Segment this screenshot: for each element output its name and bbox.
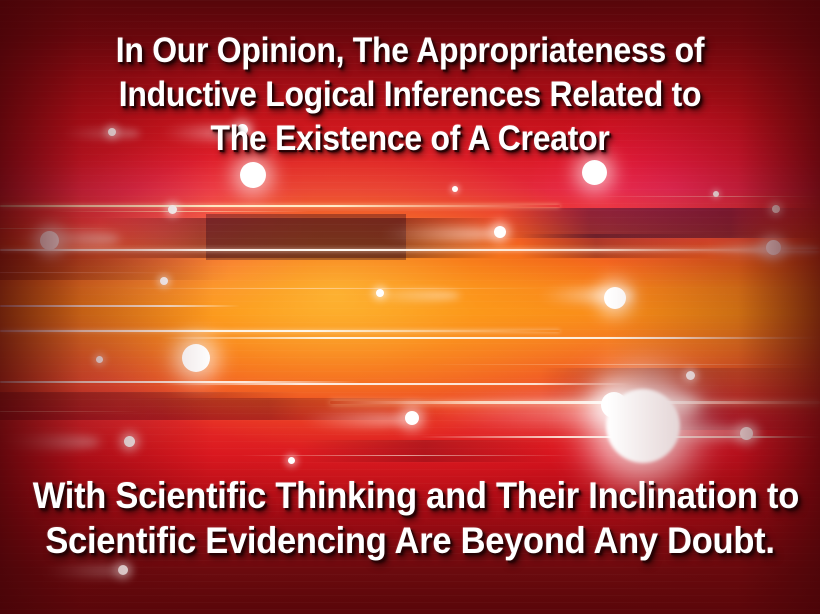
bokeh-dot [582, 160, 607, 185]
background-band [580, 404, 820, 430]
bokeh-dot [124, 436, 135, 447]
conclusion-line-1: With Scientific Thinking and Their Incli… [33, 473, 787, 518]
light-streak [120, 288, 550, 289]
bokeh-dot [740, 427, 753, 440]
bokeh-trail [10, 231, 120, 247]
bokeh-dot [96, 356, 103, 363]
bokeh-trail [380, 227, 500, 241]
bokeh-dot [601, 392, 627, 418]
bokeh-trail [360, 290, 460, 301]
background-band [0, 250, 230, 280]
bokeh-dot [240, 162, 266, 188]
bokeh-dot [182, 344, 210, 372]
background-band [540, 368, 820, 402]
bokeh-dot [108, 128, 116, 136]
light-streak [420, 436, 820, 438]
background-band [520, 234, 710, 258]
light-streak [0, 305, 240, 307]
conclusion-line-2: Scientific Evidencing Are Beyond Any Dou… [33, 518, 787, 563]
bokeh-dot [168, 205, 177, 214]
bokeh-trail [160, 126, 250, 140]
bokeh-dot [604, 287, 626, 309]
background-magenta-wash [0, 0, 820, 614]
background-center-glow [0, 0, 820, 614]
bokeh-trail [0, 435, 100, 449]
light-streak [0, 381, 360, 383]
bokeh-trail [700, 243, 790, 256]
light-streak [0, 228, 120, 229]
background-band [500, 208, 820, 238]
title-line-1: In Our Opinion, The Appropriateness of [41, 28, 779, 72]
bokeh-trail [300, 413, 410, 427]
bokeh-dot [686, 371, 695, 380]
light-streak [0, 272, 180, 273]
bokeh-dot [713, 191, 719, 197]
background-band [300, 440, 550, 462]
light-streak [0, 411, 140, 412]
bokeh-dot [766, 240, 781, 255]
bokeh-dot [237, 124, 248, 135]
bokeh-dot [494, 226, 506, 238]
bokeh-trail [538, 288, 633, 303]
light-streak [600, 196, 820, 197]
background-band [0, 392, 300, 420]
bokeh-trail [60, 128, 140, 139]
bokeh-dot [405, 411, 419, 425]
background-band [206, 214, 406, 260]
bokeh-dot [118, 565, 128, 575]
title-line-2: Inductive Logical Inferences Related to [41, 72, 779, 116]
bokeh-trail [590, 393, 700, 415]
bokeh-dot [452, 186, 458, 192]
presentation-slide: In Our Opinion, The Appropriateness of I… [0, 0, 820, 614]
background-band [100, 218, 500, 258]
light-streak [330, 401, 820, 404]
background-band [120, 398, 450, 420]
light-streak [0, 205, 560, 207]
background-base-gradient [0, 0, 820, 614]
bokeh-dot [606, 389, 680, 463]
light-streak [240, 455, 570, 456]
bokeh-dot [376, 289, 384, 297]
light-streak [0, 330, 560, 332]
light-streak [50, 211, 310, 212]
light-streak [430, 364, 820, 365]
bokeh-dot [160, 277, 168, 285]
bokeh-trail [740, 244, 820, 256]
background-edge-vignette [0, 0, 820, 614]
slide-conclusion: With Scientific Thinking and Their Incli… [33, 473, 787, 563]
slide-title: In Our Opinion, The Appropriateness of I… [41, 28, 779, 160]
light-streak [0, 249, 820, 251]
background-scanline-overlay [0, 0, 820, 614]
bokeh-dot [40, 231, 59, 250]
bokeh-dot [772, 205, 780, 213]
bokeh-trail [430, 396, 630, 426]
bokeh-trail [640, 425, 760, 441]
bokeh-dot [288, 457, 295, 464]
light-streak [160, 383, 630, 385]
bokeh-trail [40, 565, 130, 577]
light-streak [160, 337, 820, 339]
title-line-3: The Existence of A Creator [41, 116, 779, 160]
